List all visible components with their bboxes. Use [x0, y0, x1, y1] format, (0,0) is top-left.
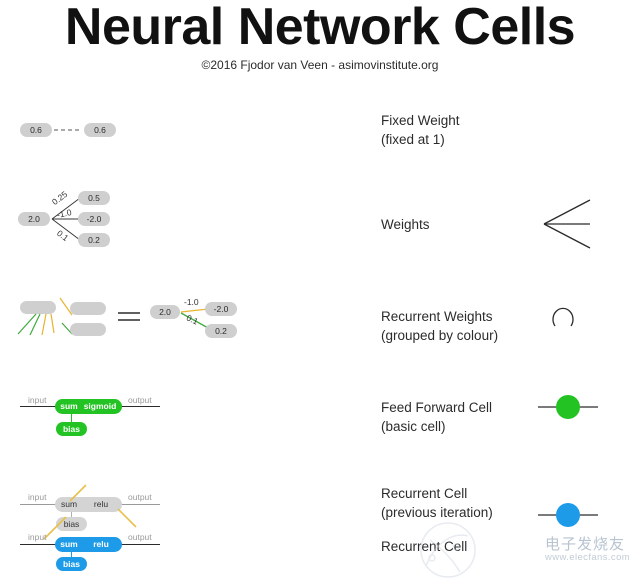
weights-target-node-2: 0.2	[78, 233, 110, 247]
legend-line1: Recurrent Weights	[381, 308, 498, 327]
recurrent-current-bias-node: bias	[56, 557, 87, 571]
weights-target-node-1: -2.0	[78, 212, 110, 226]
fan-arrow-icon	[540, 196, 596, 252]
green-circle-icon	[538, 390, 598, 424]
loop-arc-icon	[548, 302, 580, 332]
weights-diagram: 2.0 0.25 -1.0 0.1 0.5 -2.0 0.2	[0, 185, 320, 255]
feed-forward-activation-label: sigmoid	[80, 399, 120, 414]
recurrent-edge-label-0: -1.0	[184, 297, 199, 307]
legend-line1: Weights	[381, 216, 430, 235]
watermark-url-text: www.elecfans.com	[545, 552, 630, 563]
legend-line1: Recurrent Cell	[381, 485, 493, 504]
recurrent-target-node-1: 0.2	[205, 324, 237, 338]
legend-line1: Recurrent Cell	[381, 538, 467, 557]
feed-forward-bias-node: bias	[56, 422, 87, 436]
fixed-weight-dashed-connector	[0, 105, 140, 155]
page-subtitle: ©2016 Fjodor van Veen - asimovinstitute.…	[0, 58, 640, 72]
legend-label-recurrent-cell: Recurrent Cell	[381, 538, 467, 557]
recurrent-current-sum-label: sum	[57, 537, 81, 552]
feed-forward-input-label: input	[28, 395, 46, 405]
recurrent-cell-current-diagram: input output sum relu bias	[0, 523, 320, 568]
legend-line2: (previous iteration)	[381, 504, 493, 523]
legend-line2: (basic cell)	[381, 418, 492, 437]
legend-label-weights: Weights	[381, 216, 430, 235]
fixed-weight-diagram: 0.6 0.6	[0, 105, 320, 155]
watermark-chinese-text: 电子发烧友	[545, 533, 625, 554]
recurrent-weights-diagram: 2.0 -1.0 0.1 -2.0 0.2	[0, 285, 330, 351]
fixed-weight-right-node: 0.6	[84, 123, 116, 137]
recurrent-current-activation-label: relu	[84, 537, 118, 552]
legend-line2: (grouped by colour)	[381, 327, 498, 346]
legend-label-recurrent-cell-previous: Recurrent Cell (previous iteration)	[381, 485, 493, 522]
recurrent-current-input-label: input	[28, 532, 46, 542]
page-title: Neural Network Cells	[0, 0, 640, 56]
legend-label-recurrent-weights: Recurrent Weights (grouped by colour)	[381, 308, 498, 345]
legend-line1: Fixed Weight	[381, 112, 460, 131]
legend-line2: (fixed at 1)	[381, 131, 460, 150]
weights-target-node-0: 0.5	[78, 191, 110, 205]
feed-forward-cell-diagram: input output sum sigmoid bias	[0, 385, 320, 440]
recurrent-current-output-label: output	[128, 532, 152, 542]
recurrent-target-node-0: -2.0	[205, 302, 237, 316]
recurrent-expanded-edges	[0, 285, 330, 351]
legend-label-fixed-weight: Fixed Weight (fixed at 1)	[381, 112, 460, 149]
blue-circle-icon	[538, 498, 598, 532]
feed-forward-output-label: output	[128, 395, 152, 405]
legend-line1: Feed Forward Cell	[381, 399, 492, 418]
legend-label-feed-forward-cell: Feed Forward Cell (basic cell)	[381, 399, 492, 436]
feed-forward-sum-label: sum	[57, 399, 81, 414]
